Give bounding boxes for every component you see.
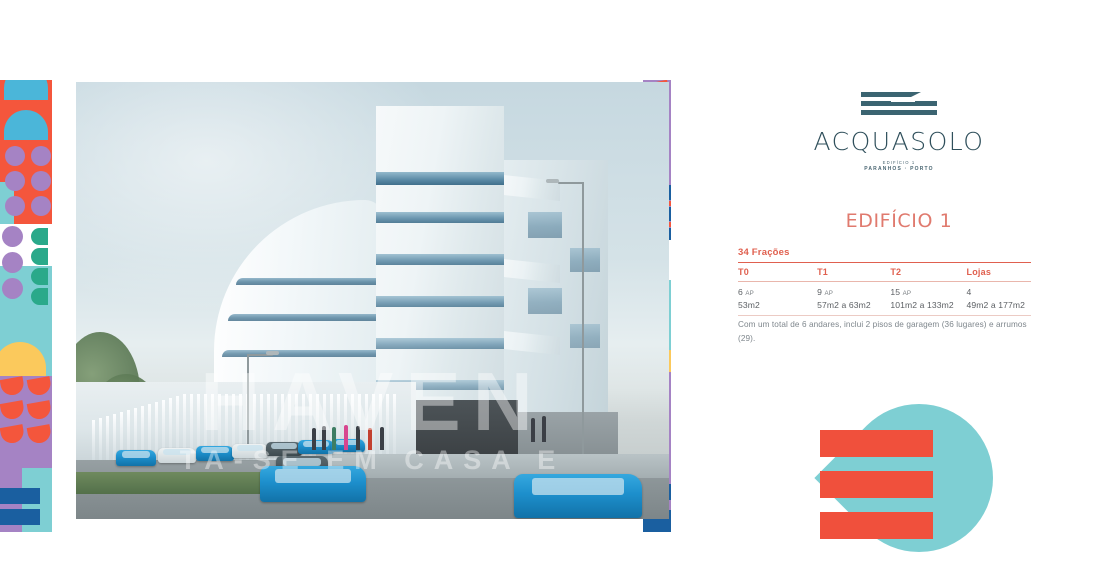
decor-band-bars [0, 468, 52, 532]
table-row: 53m2 57m2 a 63m2 101m2 a 133m2 49m2 a 17… [738, 298, 1031, 311]
table-header-row: T0 T1 T2 Lojas [738, 263, 1031, 281]
table-title: 34 Frações [738, 247, 1031, 262]
building-note: Com um total de 6 andares, inclui 2 piso… [738, 318, 1028, 345]
window-band-c2 [228, 314, 384, 321]
poster-page: HAVEN TA-SE EM CASA E ACQUASOLO EDIFÍCIO… [0, 0, 1098, 563]
window-band-c1 [236, 278, 384, 285]
brand-emblem [820, 398, 1020, 558]
decor-circle-6 [31, 196, 51, 216]
window-band-m5 [376, 338, 504, 349]
decor-band-halfdiscs [0, 376, 52, 468]
project-render-image: HAVEN TA-SE EM CASA E [76, 82, 669, 519]
decor-circle-2 [31, 146, 51, 166]
watermark-main: HAVEN [76, 360, 669, 443]
table-header-lojas: Lojas [967, 263, 1031, 281]
lamp-arm-2 [558, 182, 584, 184]
decor-halfdisc-5 [0, 424, 25, 445]
acquasolo-bars-logo-icon [861, 92, 937, 118]
decor-leaf-4 [31, 288, 48, 305]
table-row: 6 AP 9 AP 15 AP 4 [738, 285, 1031, 298]
cell-count-t0: 6 AP [738, 285, 817, 298]
decor-halfdisc-1 [0, 376, 25, 397]
cell-count-lojas: 4 [967, 285, 1031, 298]
decor-band-domes [0, 80, 52, 142]
decor-bar-blue-1 [0, 488, 40, 504]
decor-strip-left [0, 80, 52, 532]
decor-sun [0, 342, 46, 376]
window-r3 [528, 288, 562, 314]
window-r4 [570, 324, 600, 348]
decor-bar-blue-2 [0, 509, 40, 525]
brand-wordmark: ACQUASOLO [700, 127, 1098, 156]
lamp-head-2 [546, 179, 559, 183]
cell-count-t1: 9 AP [817, 285, 890, 298]
car-foreground-2 [514, 474, 642, 518]
emblem-bar-2 [820, 471, 933, 498]
decor-halfdisc-4 [27, 400, 52, 421]
window-band-m1 [376, 172, 504, 185]
decor-halfdisc-6 [27, 424, 52, 445]
decor-band-circles [0, 142, 52, 224]
brand-logo: ACQUASOLO EDIFÍCIO 1 PARANHOS · PORTO [700, 92, 1098, 172]
decor-leaf-3 [31, 268, 48, 285]
brand-sub-line-2: PARANHOS · PORTO [700, 166, 1098, 172]
decor-circle-1 [5, 146, 25, 166]
window-band-m2 [376, 212, 504, 223]
emblem-bar-1 [820, 430, 933, 457]
window-band-m3 [376, 254, 504, 265]
cell-area-t1: 57m2 a 63m2 [817, 298, 890, 311]
decor-dome-2 [4, 110, 48, 140]
decor-band-sun [0, 324, 52, 376]
decor-circle-8 [2, 252, 23, 273]
decor-circle-9 [2, 278, 23, 299]
info-panel: ACQUASOLO EDIFÍCIO 1 PARANHOS · PORTO ED… [700, 0, 1098, 563]
cell-area-t2: 101m2 a 133m2 [890, 298, 966, 311]
cell-area-lojas: 49m2 a 177m2 [967, 298, 1031, 311]
table-rule-mid [738, 281, 1031, 282]
emblem-bar-3 [820, 512, 933, 539]
table-rule-bottom [738, 315, 1031, 316]
decor-dome-1 [4, 80, 48, 100]
decor-halfdisc-2 [27, 376, 52, 397]
decor-circle-5 [5, 196, 25, 216]
window-band-m4 [376, 296, 504, 307]
decor-band-leaves [0, 224, 52, 324]
page-title: EDIFÍCIO 1 [700, 210, 1098, 232]
table-header-t1: T1 [817, 263, 890, 281]
fractions-table: 34 Frações T0 T1 T2 Lojas 6 AP 9 [738, 247, 1031, 316]
cell-count-t2: 15 AP [890, 285, 966, 298]
decor-circle-7 [2, 226, 23, 247]
cell-area-t0: 53m2 [738, 298, 817, 311]
decor-halfdisc-3 [0, 400, 25, 421]
window-r1 [528, 212, 562, 238]
decor-leaf-2 [31, 248, 48, 265]
table-header-t2: T2 [890, 263, 966, 281]
watermark-sub: TA-SE EM CASA E [76, 445, 669, 476]
decor-leaf-1 [31, 228, 48, 245]
window-r2 [570, 248, 600, 272]
decor-circle-4 [31, 171, 51, 191]
decor-circle-3 [5, 171, 25, 191]
brand-sub-line-1: EDIFÍCIO 1 [700, 160, 1098, 165]
table-header-t0: T0 [738, 263, 817, 281]
